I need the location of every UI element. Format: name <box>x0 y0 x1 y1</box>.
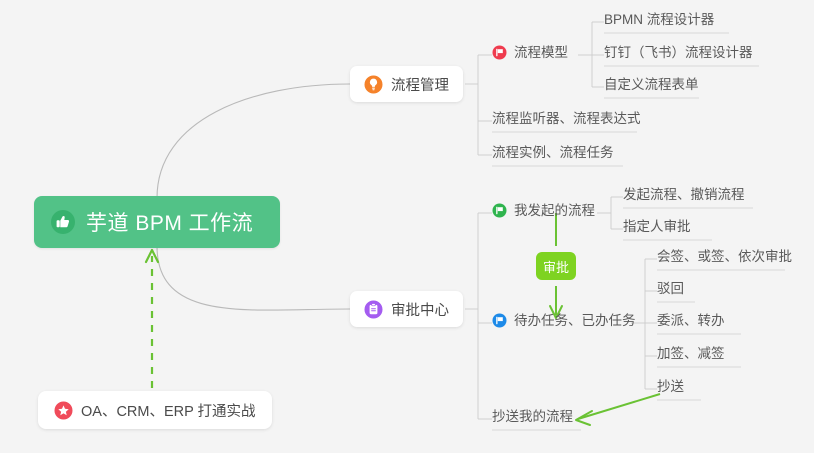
branch-label: 流程管理 <box>391 74 449 95</box>
node-label: 流程模型 <box>514 46 568 60</box>
approval-tag-label: 审批 <box>543 257 569 276</box>
branch-card-liucheng-guanli[interactable]: 流程管理 <box>350 66 463 102</box>
node-wo-faqi-de-liucheng[interactable]: 我发起的流程 <box>492 203 595 223</box>
node-jiaqian-jianqian[interactable]: 加签、减签 <box>657 347 725 366</box>
flag-icon <box>492 313 507 328</box>
node-custom-form[interactable]: 自定义流程表单 <box>604 78 699 97</box>
node-zhidingren-shenpi[interactable]: 指定人审批 <box>623 220 691 239</box>
node-label: 我发起的流程 <box>514 204 595 218</box>
node-liucheng-jiantingqi[interactable]: 流程监听器、流程表达式 <box>492 112 641 131</box>
thumbs-up-icon <box>50 209 76 235</box>
star-icon <box>54 401 73 420</box>
cc-arrow <box>576 394 660 425</box>
node-daiban-yiban-renwu[interactable]: 待办任务、已办任务 <box>492 313 636 333</box>
mindmap-canvas: 芋道 BPM 工作流 流程管理 审批中心 <box>0 0 814 453</box>
root-label: 芋道 BPM 工作流 <box>86 207 253 237</box>
node-huiqian-huoqian-yici[interactable]: 会签、或签、依次审批 <box>657 250 792 269</box>
node-bpmn-designer[interactable]: BPMN 流程设计器 <box>604 13 714 32</box>
node-label: 待办任务、已办任务 <box>514 314 636 328</box>
callout-card-oa-crm-erp[interactable]: OA、CRM、ERP 打通实战 <box>38 391 272 429</box>
branch-card-shenpi-zhongxin[interactable]: 审批中心 <box>350 291 463 327</box>
clipboard-icon <box>364 300 383 319</box>
node-bohui[interactable]: 驳回 <box>657 282 684 301</box>
callout-label: OA、CRM、ERP 打通实战 <box>81 400 256 421</box>
node-chaosong-wode-liucheng[interactable]: 抄送我的流程 <box>492 410 573 429</box>
node-liucheng-shili[interactable]: 流程实例、流程任务 <box>492 146 614 165</box>
branch-label: 审批中心 <box>391 299 449 320</box>
flag-icon <box>492 203 507 218</box>
approval-tag[interactable]: 审批 <box>536 252 576 280</box>
lightbulb-icon <box>364 75 383 94</box>
node-dingding-feishu-designer[interactable]: 钉钉（飞书）流程设计器 <box>604 46 753 65</box>
flag-icon <box>492 45 507 60</box>
callout-arrow <box>146 250 158 388</box>
node-liucheng-moxing[interactable]: 流程模型 <box>492 45 568 65</box>
node-chaosong[interactable]: 抄送 <box>657 380 684 399</box>
root-node[interactable]: 芋道 BPM 工作流 <box>34 196 280 248</box>
node-weipai-zhuanban[interactable]: 委派、转办 <box>657 314 725 333</box>
node-faqi-chexiao-liucheng[interactable]: 发起流程、撤销流程 <box>623 188 745 207</box>
